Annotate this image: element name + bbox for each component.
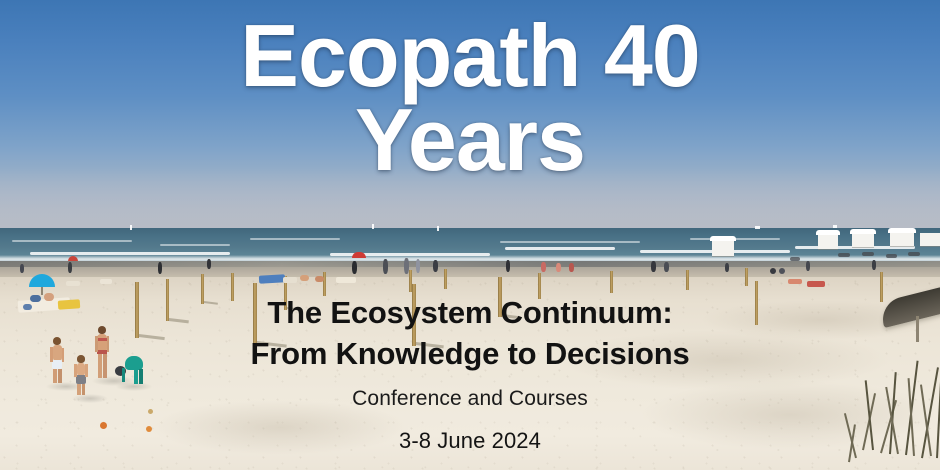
beachgoer <box>541 262 546 272</box>
beachgoer <box>68 262 72 273</box>
beachgoer <box>569 263 574 272</box>
distant-boat-2 <box>833 225 837 228</box>
groyne-post <box>686 270 689 290</box>
poster-subtitle: The Ecosystem Continuum: From Knowledge … <box>0 293 940 375</box>
beachgoer <box>207 259 211 269</box>
beach-lounger <box>886 254 897 258</box>
beach-towel <box>66 281 80 286</box>
beach-lounger <box>838 253 850 257</box>
sunbather <box>300 275 309 281</box>
beach-cabana <box>712 240 734 256</box>
red-beach-object <box>352 252 366 258</box>
wave-line-9 <box>160 244 230 246</box>
beachgoer <box>556 263 561 272</box>
beachgoer <box>651 261 656 272</box>
groyne-post <box>444 269 447 289</box>
beach-lounger <box>908 252 920 256</box>
red-beach-object-2 <box>68 256 78 261</box>
beach-towel <box>259 274 285 283</box>
beachgoer <box>416 259 420 273</box>
beach-cabana-roof <box>816 230 840 235</box>
event-dates-label: 3-8 June 2024 <box>0 428 940 454</box>
distant-sail-3 <box>437 226 439 231</box>
beachgoer <box>433 260 438 272</box>
wave-line-2 <box>250 238 340 240</box>
beach-towel <box>336 277 356 283</box>
beach-cabana <box>852 233 874 247</box>
wave-line-1 <box>12 240 132 242</box>
beachgoer <box>806 261 810 271</box>
beachgoer <box>383 259 388 274</box>
beachgoer <box>664 262 669 272</box>
beach-towel <box>283 277 297 283</box>
beachgoer <box>872 260 876 270</box>
beachgoer <box>20 264 24 273</box>
beachgoer <box>770 268 776 274</box>
beachgoer <box>725 263 729 272</box>
beachgoer <box>506 260 510 272</box>
distant-boat-1 <box>755 226 760 229</box>
beach-cabana <box>920 233 940 246</box>
wave-line-3 <box>500 241 640 243</box>
event-poster: Ecopath 40 Years The Ecosystem Continuum… <box>0 0 940 470</box>
event-type-label: Conference and Courses <box>0 387 940 411</box>
beach-lounger <box>790 257 800 261</box>
title-line-2: Years <box>0 98 940 182</box>
beach-cabana <box>890 232 914 246</box>
beachgoer <box>352 261 357 274</box>
sunbather <box>315 276 324 282</box>
beach-cabana-roof <box>710 236 736 241</box>
beach-towel <box>100 279 112 284</box>
beach-lounger <box>862 252 874 256</box>
beachgoer <box>779 268 785 274</box>
subtitle-line-1: The Ecosystem Continuum: <box>0 293 940 334</box>
groyne-post <box>610 271 613 293</box>
subtitle-line-2: From Knowledge to Decisions <box>0 334 940 375</box>
beach-cabana <box>818 234 838 249</box>
groyne-post <box>745 268 748 286</box>
distant-sail-1 <box>130 225 132 230</box>
wave-line-4 <box>505 247 615 250</box>
beach-cabana-roof <box>888 228 916 233</box>
beach-cabana-roof <box>850 229 876 234</box>
beach-towel <box>788 279 802 284</box>
poster-title: Ecopath 40 Years <box>0 14 940 183</box>
beach-towel <box>807 281 825 287</box>
beachgoer <box>158 262 162 274</box>
distant-sail-2 <box>372 224 374 229</box>
